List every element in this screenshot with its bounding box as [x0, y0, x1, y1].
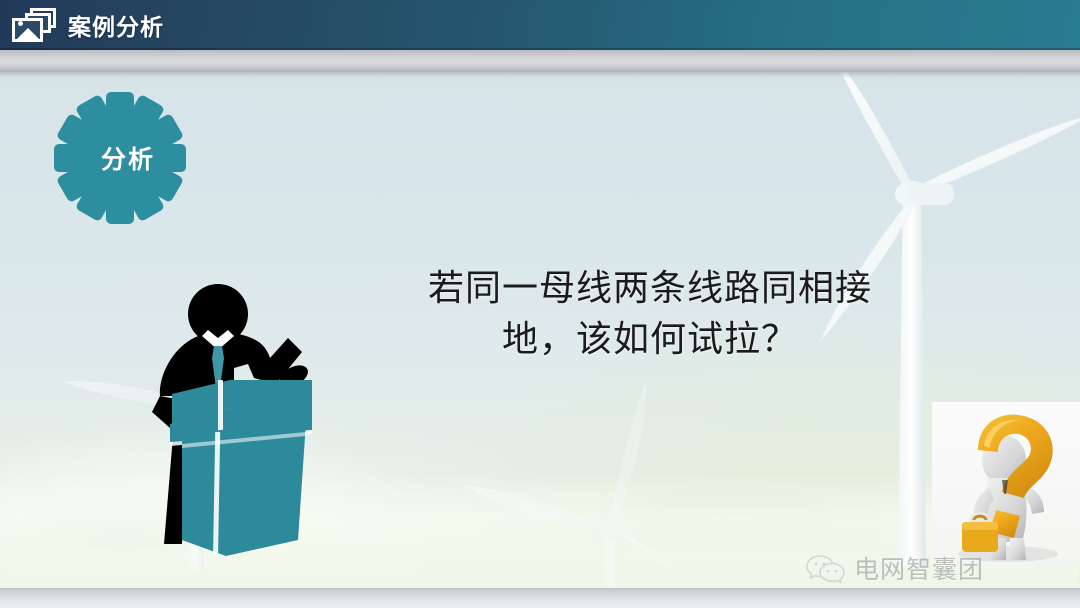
- header-bar: 案例分析: [0, 0, 1080, 50]
- slide-canvas: 若同一母线两条线路同相接 地，该如何试拉？: [0, 0, 1080, 608]
- gallery-sun-dot: [18, 21, 23, 26]
- footer-strip: [0, 588, 1080, 608]
- watermark-label: 电网智囊团: [854, 550, 984, 586]
- question-line-2: 地，该如何试拉？: [400, 313, 900, 364]
- page-title: 案例分析: [68, 8, 164, 42]
- main-question-text: 若同一母线两条线路同相接 地，该如何试拉？: [400, 262, 900, 364]
- analysis-gear-badge[interactable]: 分析: [44, 92, 196, 224]
- speaker-at-podium-illustration: [130, 272, 342, 562]
- gallery-stack-icon: [12, 8, 56, 42]
- gear-icon: [44, 92, 196, 224]
- header-bevel-divider: [0, 50, 1080, 72]
- question-line-1: 若同一母线两条线路同相接: [400, 262, 900, 313]
- wechat-icon: [805, 553, 845, 583]
- gallery-sheet-front: [12, 18, 43, 42]
- wechat-watermark: 电网智囊团: [805, 550, 984, 586]
- question-mark-figure: [932, 402, 1080, 564]
